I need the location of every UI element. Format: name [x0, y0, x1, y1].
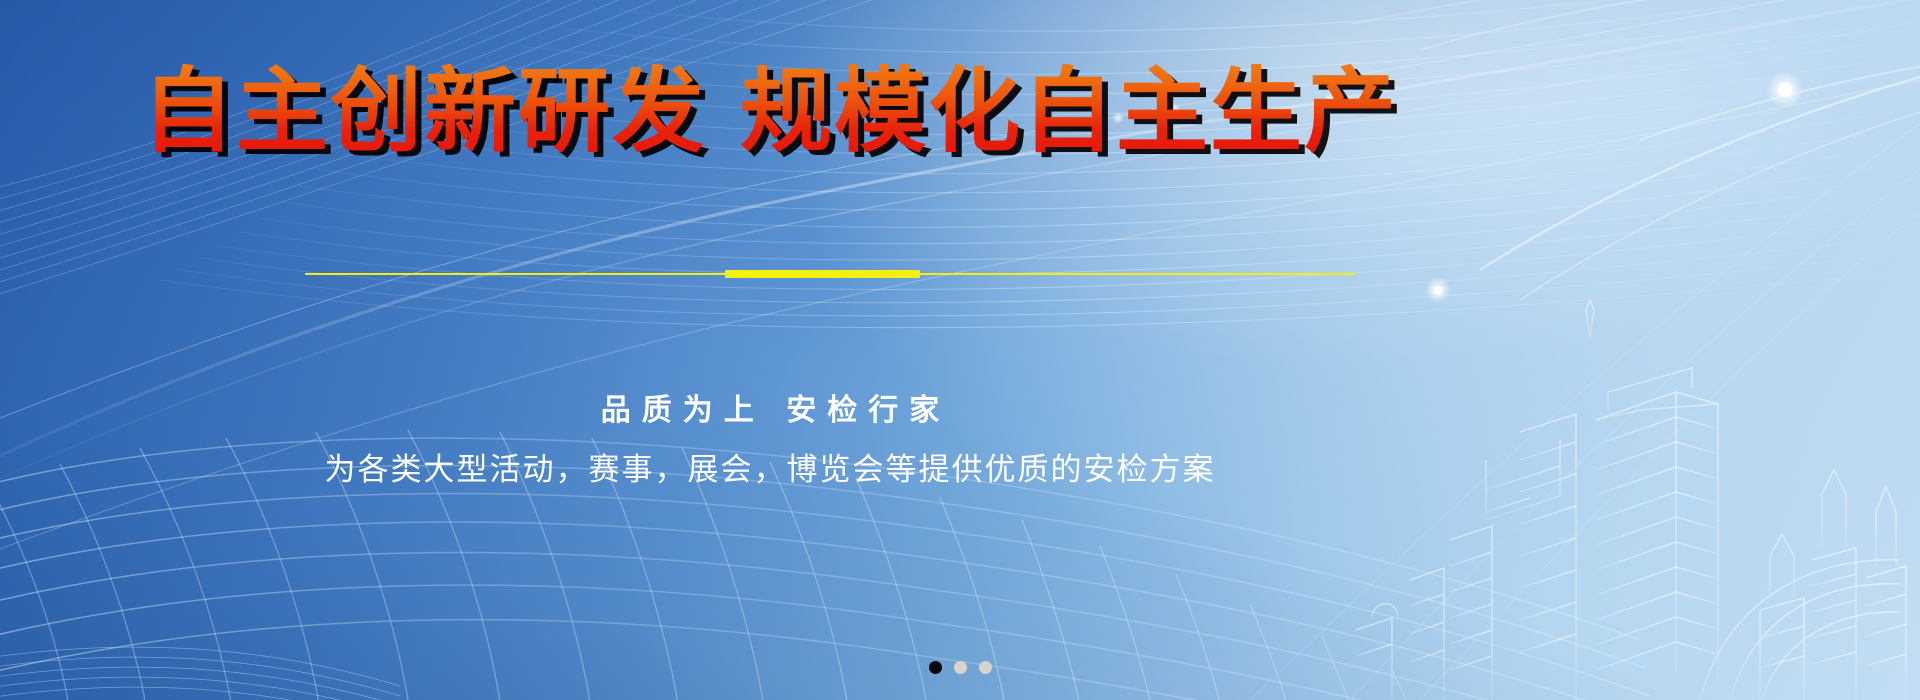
banner-content: 自主创新研发 规模化自主生产 品质为上 安检行家 为各类大型活动，赛事，展会，博…: [0, 0, 1920, 700]
banner-description: 为各类大型活动，赛事，展会，博览会等提供优质的安检方案: [0, 451, 1540, 490]
carousel-indicators[interactable]: [0, 661, 1920, 674]
title-divider: [305, 272, 1355, 275]
banner-slogan: 品质为上 安检行家: [0, 393, 1540, 429]
banner-subtitle-container: 品质为上 安检行家 为各类大型活动，赛事，展会，博览会等提供优质的安检方案: [0, 393, 1540, 490]
carousel-dot-1[interactable]: [929, 661, 942, 674]
hero-banner: 自主创新研发 规模化自主生产 品质为上 安检行家 为各类大型活动，赛事，展会，博…: [0, 0, 1920, 700]
banner-title-container: 自主创新研发 规模化自主生产: [0, 64, 1540, 161]
banner-headline: 自主创新研发 规模化自主生产: [142, 64, 1398, 161]
carousel-dot-2[interactable]: [954, 661, 967, 674]
divider-accent-segment: [725, 270, 920, 278]
carousel-dot-3[interactable]: [979, 661, 992, 674]
